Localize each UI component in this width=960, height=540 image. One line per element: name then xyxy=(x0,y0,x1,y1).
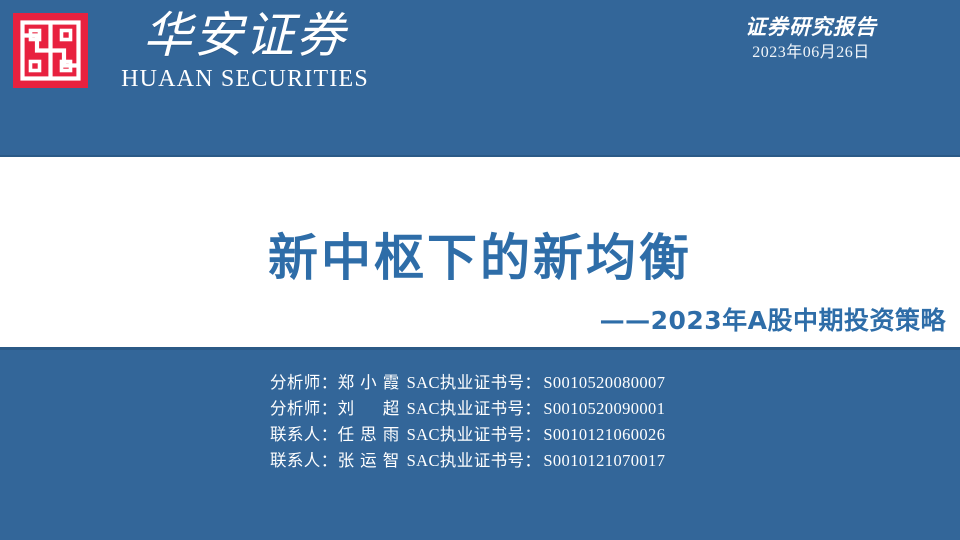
analyst-row: 分析师：刘超SAC执业证书号：S0010520090001 xyxy=(0,396,960,422)
analyst-cert-label: SAC执业证书号： xyxy=(400,370,542,396)
analyst-cert-label: SAC执业证书号： xyxy=(400,448,542,474)
analyst-name: 刘超 xyxy=(338,396,400,422)
page-subtitle: ——2023年A股中期投资策略 xyxy=(600,305,946,337)
analyst-row: 分析师：郑小霞SAC执业证书号：S0010520080007 xyxy=(0,370,960,396)
analyst-name: 任思雨 xyxy=(338,422,400,448)
analyst-cert-label: SAC执业证书号： xyxy=(400,396,542,422)
brand-name-en: HUAAN SECURITIES xyxy=(100,65,390,93)
page-title: 新中枢下的新均衡 xyxy=(0,229,960,287)
analyst-role: 联系人： xyxy=(270,422,338,448)
report-date: 2023年06月26日 xyxy=(676,42,946,64)
analyst-cert-number: S0010520090001 xyxy=(541,396,665,422)
report-cover-page: 华安证券 HUAAN SECURITIES 证券研究报告 2023年06月26日… xyxy=(0,0,960,540)
brand-wordmark: 华安证券 HUAAN SECURITIES xyxy=(100,5,390,105)
analyst-role: 分析师： xyxy=(270,370,338,396)
analyst-row: 联系人：任思雨SAC执业证书号：S0010121060026 xyxy=(0,422,960,448)
header-meta: 证券研究报告 2023年06月26日 xyxy=(676,12,946,64)
analyst-role: 分析师： xyxy=(270,396,338,422)
analyst-name: 郑小霞 xyxy=(338,370,400,396)
analyst-name: 张运智 xyxy=(338,448,400,474)
huaan-square-seal-icon xyxy=(13,13,88,88)
header-band: 华安证券 HUAAN SECURITIES 证券研究报告 2023年06月26日 xyxy=(0,0,960,157)
analyst-band: 分析师：郑小霞SAC执业证书号：S0010520080007 分析师：刘超SAC… xyxy=(0,350,960,540)
analyst-cert-label: SAC执业证书号： xyxy=(400,422,542,448)
analyst-role: 联系人： xyxy=(270,448,338,474)
analyst-cert-number: S0010121060026 xyxy=(541,422,665,448)
analyst-cert-number: S0010520080007 xyxy=(541,370,665,396)
report-kind-label: 证券研究报告 xyxy=(676,12,946,42)
analyst-row: 联系人：张运智SAC执业证书号：S0010121070017 xyxy=(0,448,960,474)
title-band: 新中枢下的新均衡 ——2023年A股中期投资策略 xyxy=(0,157,960,347)
analyst-list: 分析师：郑小霞SAC执业证书号：S0010520080007 分析师：刘超SAC… xyxy=(0,370,960,474)
analyst-cert-number: S0010121070017 xyxy=(541,448,665,474)
brand-name-cn: 华安证券 xyxy=(100,5,390,67)
